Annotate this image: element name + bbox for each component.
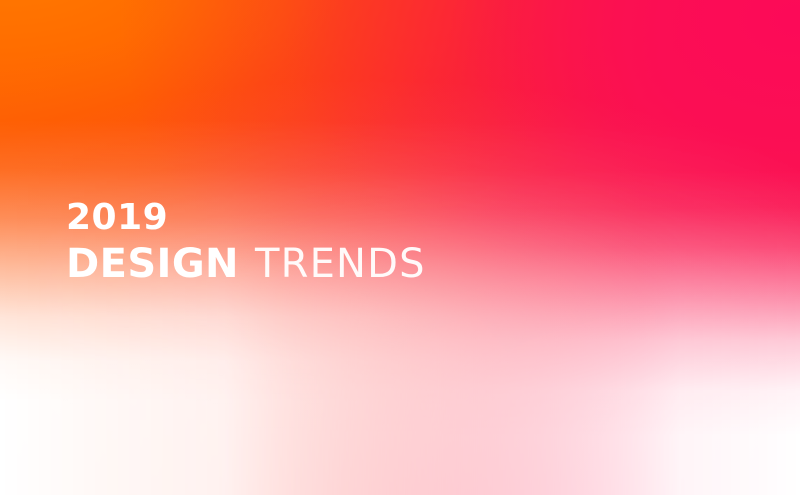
headline-word-trends: TRENDS xyxy=(255,241,426,287)
design-trends-banner: 2019 DESIGNTRENDS xyxy=(0,0,800,495)
headline-block: 2019 DESIGNTRENDS xyxy=(66,198,426,293)
headline-year: 2019 xyxy=(66,198,426,238)
headline-word-design: DESIGN xyxy=(66,241,239,287)
headline-title-line: DESIGNTRENDS xyxy=(66,244,426,293)
